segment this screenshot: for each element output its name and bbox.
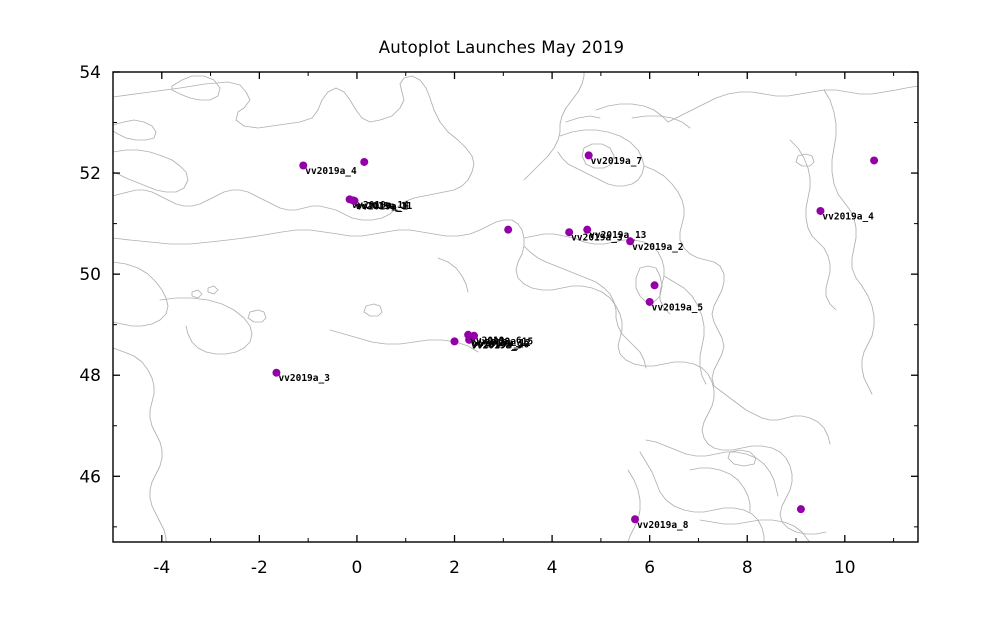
- axis-tick-labels: 5452504846-4-20246810: [79, 63, 855, 578]
- axis-ticks: [113, 72, 918, 542]
- x-tick-label: 0: [352, 558, 363, 578]
- y-tick-label: 50: [79, 265, 101, 285]
- x-tick-label: -2: [251, 558, 268, 578]
- y-tick-label: 54: [79, 63, 101, 83]
- data-point[interactable]: vv2019a_4: [816, 207, 874, 223]
- data-point[interactable]: vv2019a_4: [299, 161, 357, 177]
- launch-label: vv2019a_3: [278, 373, 330, 384]
- launch-marker[interactable]: [870, 156, 878, 164]
- data-point[interactable]: [504, 226, 512, 234]
- x-tick-label: 8: [742, 558, 753, 578]
- launch-label: vv2019a_4: [305, 166, 357, 177]
- launch-marker[interactable]: [451, 337, 459, 345]
- data-point[interactable]: vv2019a_13: [583, 226, 646, 242]
- scatter-map-plot: 5452504846-4-20246810 vv2019a_4vv2019a_1…: [0, 0, 1003, 633]
- launch-label: vv2019a_4: [822, 211, 874, 222]
- x-tick-label: 10: [834, 558, 856, 578]
- y-tick-label: 46: [79, 467, 101, 487]
- launch-label: vv2019a_15: [476, 336, 533, 347]
- launch-marker[interactable]: [797, 505, 805, 513]
- data-point[interactable]: [651, 281, 659, 289]
- x-tick-label: -4: [153, 558, 170, 578]
- data-point[interactable]: [870, 156, 878, 164]
- data-point[interactable]: [797, 505, 805, 513]
- data-point[interactable]: [360, 158, 368, 166]
- figure-canvas: Autoplot Launches May 2019: [0, 0, 1003, 633]
- y-tick-label: 52: [79, 164, 101, 184]
- launch-label: vv2019a_8: [637, 520, 689, 531]
- y-tick-label: 48: [79, 366, 101, 386]
- launch-label: vv2019a_7: [591, 156, 642, 167]
- launch-label: vv2019a_2: [632, 242, 683, 253]
- launch-marker[interactable]: [360, 158, 368, 166]
- x-tick-label: 6: [644, 558, 655, 578]
- x-tick-label: 4: [547, 558, 558, 578]
- basemap-coastlines: [113, 72, 918, 542]
- launch-marker[interactable]: [504, 226, 512, 234]
- data-point[interactable]: vv2019a_3: [272, 369, 330, 385]
- launch-marker[interactable]: [651, 281, 659, 289]
- launch-label: vv2019a_13: [589, 230, 646, 241]
- x-tick-label: 2: [449, 558, 460, 578]
- data-point[interactable]: vv2019a_8: [631, 515, 689, 531]
- data-points-layer[interactable]: vv2019a_4vv2019a_14vv2019a_11vv2019a_1vv…: [272, 151, 878, 530]
- data-point[interactable]: vv2019a_7: [585, 151, 642, 167]
- axis-frame: [113, 72, 918, 542]
- data-point[interactable]: vv2019a_15: [470, 332, 533, 348]
- launch-label: vv2019a_1: [357, 201, 409, 212]
- launch-label: vv2019a_5: [652, 302, 704, 313]
- data-point[interactable]: [451, 337, 459, 345]
